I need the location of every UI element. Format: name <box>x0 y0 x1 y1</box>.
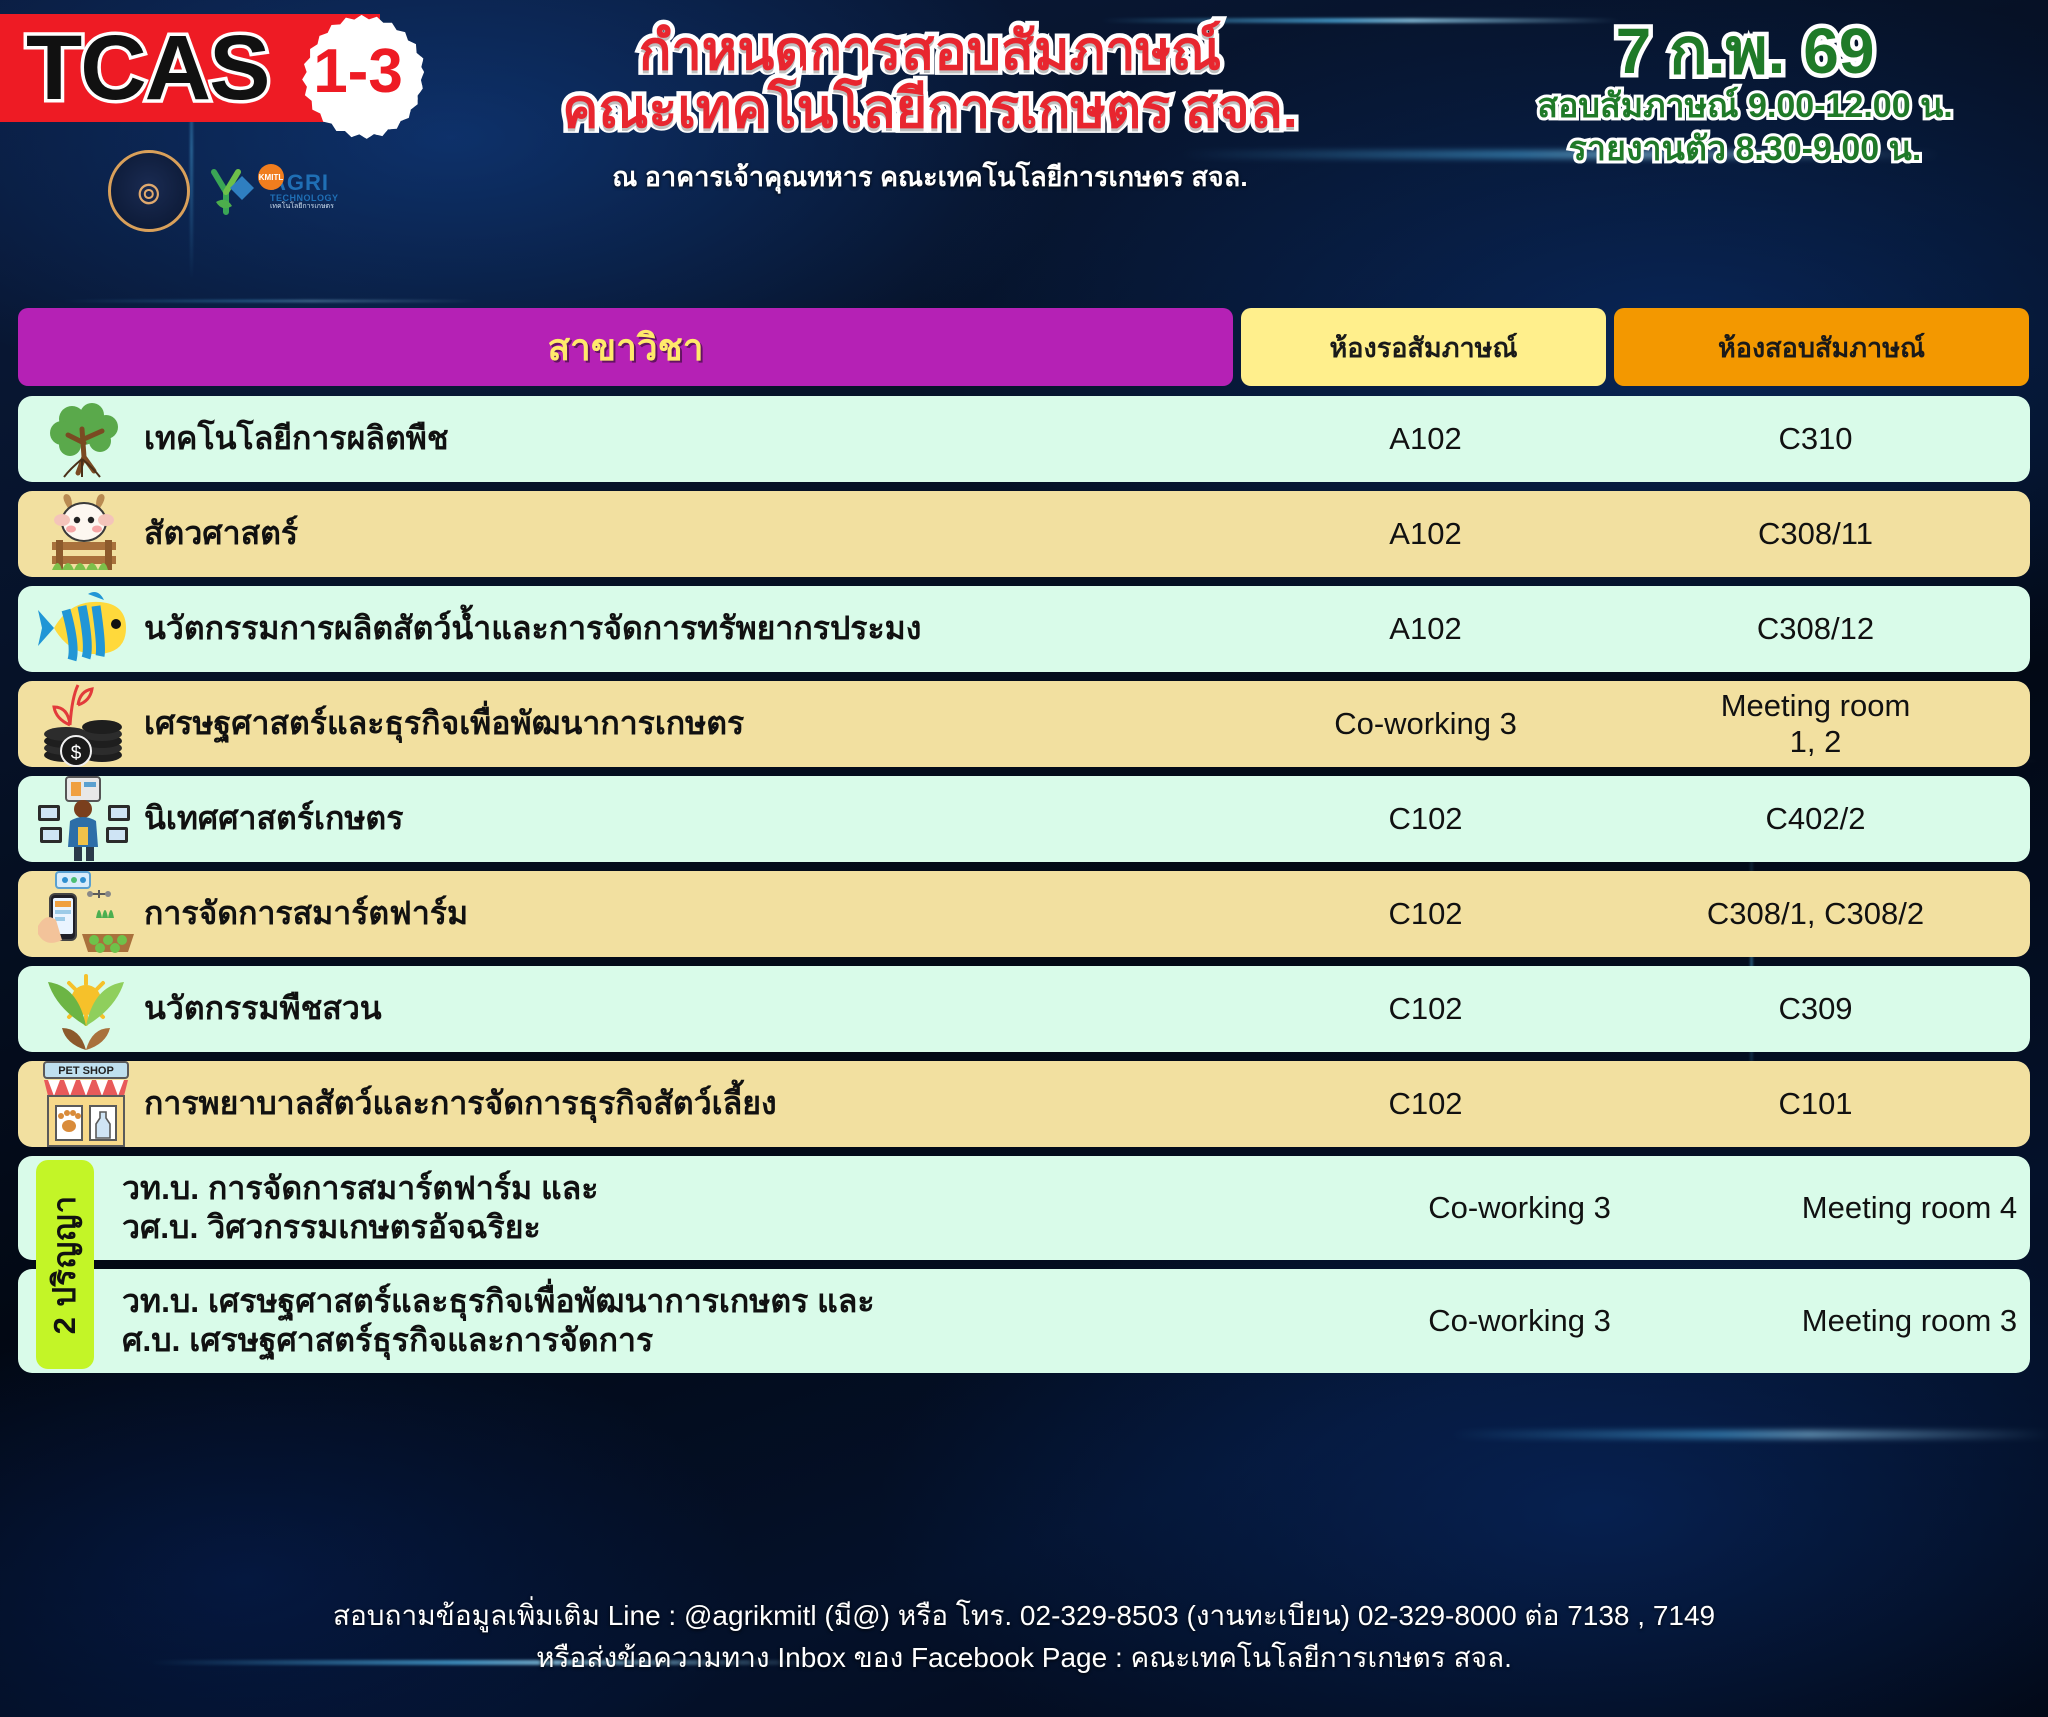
exam-room-value: Meeting room 4 <box>1802 1190 2017 1226</box>
subject-name-line-2: ศ.บ. เศรษฐศาสตร์ธุรกิจและการจัดการ <box>122 1321 875 1360</box>
agri-technology-logo: KMITL AGRI TECHNOLOGY เทคโนโลยีการเกษตร <box>206 162 339 220</box>
waiting-room-value: A102 <box>1389 611 1461 647</box>
cell-subject: นวัตกรรมการผลิตสัตว์น้ำและการจัดการทรัพย… <box>18 586 1243 672</box>
double-degree-tab: 2 ปริญญา <box>36 1160 94 1369</box>
cell-exam-room: C308/12 <box>1608 586 2023 672</box>
exam-room-value: C101 <box>1778 1086 1852 1122</box>
column-header-subject: สาขาวิชา <box>18 308 1233 386</box>
cell-exam-room: C310 <box>1608 396 2023 482</box>
poster-root: TCAS 1-3 ๏ KMITL AGRI <box>0 0 2048 1717</box>
exam-room-value: C308/11 <box>1758 516 1873 552</box>
table-body: เทคโนโลยีการผลิตพืชA102C310 สัตวศาสตร์A1… <box>18 396 2030 1147</box>
kmitl-badge: KMITL <box>258 164 284 190</box>
subject-name: การจัดการสมาร์ตฟาร์ม <box>144 894 468 933</box>
subject-name: นวัตกรรมพืชสวน <box>144 989 382 1028</box>
waiting-room-value: Co-working 3 <box>1428 1190 1611 1226</box>
light-streak <box>60 300 480 302</box>
subject-name: เทคโนโลยีการผลิตพืช <box>144 419 449 458</box>
double-degree-tab-label: 2 ปริญญา <box>40 1195 90 1334</box>
goat-icon <box>28 491 144 577</box>
column-header-waiting-room-label: ห้องรอสัมภาษณ์ <box>1330 326 1518 369</box>
pet-shop-icon: PET SHOP <box>28 1061 144 1147</box>
footer-contact: สอบถามข้อมูลเพิ่มเติม Line : @agrikmitl … <box>0 1595 2048 1679</box>
exam-room-value: Meeting room 3 <box>1802 1303 2017 1339</box>
cell-subject: วท.บ. การจัดการสมาร์ตฟาร์ม และวศ.บ. วิศว… <box>18 1156 1337 1260</box>
cell-subject: นิเทศศาสตร์เกษตร <box>18 776 1243 862</box>
column-header-subject-label: สาขาวิชา <box>547 318 703 377</box>
cell-waiting-room: Co-working 3 <box>1337 1269 1702 1373</box>
svg-text:$: $ <box>71 743 82 764</box>
exam-date: 7 ก.พ. 69 <box>1450 18 2040 85</box>
smartfarm-icon <box>28 871 144 957</box>
exam-room-value: C309 <box>1778 991 1852 1027</box>
agri-subname: TECHNOLOGY <box>270 194 339 203</box>
waiting-room-value: Co-working 3 <box>1334 706 1517 742</box>
cell-exam-room: C308/11 <box>1608 491 2023 577</box>
cell-subject: $ เศรษฐศาสตร์และธุรกิจเพื่อพัฒนาการเกษตร <box>18 681 1243 767</box>
cell-subject: เทคโนโลยีการผลิตพืช <box>18 396 1243 482</box>
table-row-double-degree: วท.บ. เศรษฐศาสตร์และธุรกิจเพื่อพัฒนาการเ… <box>18 1269 2030 1373</box>
tree-icon <box>28 396 144 482</box>
subject-name: นิเทศศาสตร์เกษตร <box>144 799 403 838</box>
page-title: กำหนดการสอบสัมภาษณ์ คณะเทคโนโลยีการเกษตร… <box>430 22 1430 198</box>
cell-subject: การจัดการสมาร์ตฟาร์ม <box>18 871 1243 957</box>
footer-line-1: สอบถามข้อมูลเพิ่มเติม Line : @agrikmitl … <box>0 1595 2048 1637</box>
schedule-table: สาขาวิชา ห้องรอสัมภาษณ์ ห้องสอบสัมภาษณ์ … <box>18 308 2030 1373</box>
waiting-room-value: C102 <box>1388 801 1462 837</box>
waiting-room-value: C102 <box>1388 991 1462 1027</box>
cell-exam-room: C308/1, C308/2 <box>1608 871 2023 957</box>
fish-icon <box>28 586 144 672</box>
table-row: เทคโนโลยีการผลิตพืชA102C310 <box>18 396 2030 482</box>
poster-header: TCAS 1-3 ๏ KMITL AGRI <box>0 0 2048 300</box>
table-row: $ เศรษฐศาสตร์และธุรกิจเพื่อพัฒนาการเกษตร… <box>18 681 2030 767</box>
subject-name: นวัตกรรมการผลิตสัตว์น้ำและการจัดการทรัพย… <box>144 609 921 648</box>
subject-name-line-1: วท.บ. เศรษฐศาสตร์และธุรกิจเพื่อพัฒนาการเ… <box>122 1282 875 1321</box>
column-header-waiting-room: ห้องรอสัมภาษณ์ <box>1241 308 1606 386</box>
cell-exam-room: C101 <box>1608 1061 2023 1147</box>
table-row: การจัดการสมาร์ตฟาร์มC102C308/1, C308/2 <box>18 871 2030 957</box>
waiting-room-value: A102 <box>1389 421 1461 457</box>
column-header-exam-room: ห้องสอบสัมภาษณ์ <box>1614 308 2029 386</box>
footer-line-2: หรือส่งข้อความทาง Inbox ของ Facebook Pag… <box>0 1637 2048 1679</box>
title-line-2: คณะเทคโนโลยีการเกษตร สจล. <box>430 80 1430 138</box>
cell-subject: วท.บ. เศรษฐศาสตร์และธุรกิจเพื่อพัฒนาการเ… <box>18 1269 1337 1373</box>
table-row: นวัตกรรมพืชสวนC102C309 <box>18 966 2030 1052</box>
cell-exam-room: Meeting room 4 <box>1702 1156 2048 1260</box>
subject-name: การพยาบาลสัตว์และการจัดการธุรกิจสัตว์เลี… <box>144 1084 777 1123</box>
cell-waiting-room: A102 <box>1243 491 1608 577</box>
waiting-room-value: C102 <box>1388 1086 1462 1122</box>
cell-exam-room: C309 <box>1608 966 2023 1052</box>
cell-subject: PET SHOP การพยาบาลสัตว์และการจัดการธุรกิ… <box>18 1061 1243 1147</box>
waiting-room-value: A102 <box>1389 516 1461 552</box>
column-header-exam-room-label: ห้องสอบสัมภาษณ์ <box>1718 326 1925 369</box>
agri-thai-name: เทคโนโลยีการเกษตร <box>270 203 339 210</box>
table-header-row: สาขาวิชา ห้องรอสัมภาษณ์ ห้องสอบสัมภาษณ์ <box>18 308 2030 386</box>
cell-waiting-room: Co-working 3 <box>1243 681 1608 767</box>
cell-waiting-room: A102 <box>1243 586 1608 672</box>
venue-text: ณ อาคารเจ้าคุณทหาร คณะเทคโนโลยีการเกษตร … <box>430 155 1430 198</box>
table-row: สัตวศาสตร์A102C308/11 <box>18 491 2030 577</box>
subject-name-line-2: วศ.บ. วิศวกรรมเกษตรอัจฉริยะ <box>122 1208 598 1247</box>
agri-leaf-icon: KMITL <box>206 162 264 220</box>
subject-name: เศรษฐศาสตร์และธุรกิจเพื่อพัฒนาการเกษตร <box>144 704 744 743</box>
exam-room-value: C308/12 <box>1757 611 1874 647</box>
waiting-room-value: Co-working 3 <box>1428 1303 1611 1339</box>
tcas-round-label: 1-3 <box>313 41 403 103</box>
media-person-icon <box>28 776 144 862</box>
table-row: นิเทศศาสตร์เกษตรC102C402/2 <box>18 776 2030 862</box>
title-line-1: กำหนดการสอบสัมภาษณ์ <box>430 22 1430 80</box>
cell-waiting-room: A102 <box>1243 396 1608 482</box>
cell-exam-room: Meeting room 3 <box>1702 1269 2048 1373</box>
cell-waiting-room: C102 <box>1243 871 1608 957</box>
report-time: รายงานตัว 8.30-9.00 น. <box>1450 128 2040 171</box>
light-streak <box>1450 1430 2048 1439</box>
cell-exam-room: Meeting room1, 2 <box>1608 681 2023 767</box>
cell-subject: สัตวศาสตร์ <box>18 491 1243 577</box>
money-plant-icon: $ <box>28 681 144 767</box>
seal-glyph: ๏ <box>137 171 161 211</box>
tcas-label: TCAS <box>26 22 268 114</box>
svg-text:PET SHOP: PET SHOP <box>58 1065 114 1077</box>
waiting-room-value: C102 <box>1388 896 1462 932</box>
subject-name-line-1: วท.บ. การจัดการสมาร์ตฟาร์ม และ <box>122 1169 598 1208</box>
exam-room-value: Meeting room1, 2 <box>1721 688 1911 759</box>
table-row: PET SHOP การพยาบาลสัตว์และการจัดการธุรกิ… <box>18 1061 2030 1147</box>
cell-exam-room: C402/2 <box>1608 776 2023 862</box>
kmitl-seal-icon: ๏ <box>108 150 190 232</box>
subject-name: สัตวศาสตร์ <box>144 514 298 553</box>
date-time-block: 7 ก.พ. 69 สอบสัมภาษณ์ 9.00-12.00 น. รายง… <box>1450 18 2040 170</box>
exam-room-value: C402/2 <box>1766 801 1866 837</box>
sprout-sun-icon <box>28 966 144 1052</box>
exam-room-value: C310 <box>1778 421 1852 457</box>
cell-subject: นวัตกรรมพืชสวน <box>18 966 1243 1052</box>
exam-room-value: C308/1, C308/2 <box>1707 896 1924 932</box>
interview-time: สอบสัมภาษณ์ 9.00-12.00 น. <box>1450 85 2040 128</box>
table-row: นวัตกรรมการผลิตสัตว์น้ำและการจัดการทรัพย… <box>18 586 2030 672</box>
cell-waiting-room: Co-working 3 <box>1337 1156 1702 1260</box>
table-row-double-degree: วท.บ. การจัดการสมาร์ตฟาร์ม และวศ.บ. วิศว… <box>18 1156 2030 1260</box>
double-degree-group: 2 ปริญญา วท.บ. การจัดการสมาร์ตฟาร์ม และว… <box>18 1156 2030 1373</box>
cell-waiting-room: C102 <box>1243 776 1608 862</box>
logo-group: ๏ KMITL AGRI TECHNOLOGY เทคโนโลยีการเกษต… <box>108 150 339 232</box>
cell-waiting-room: C102 <box>1243 966 1608 1052</box>
cell-waiting-room: C102 <box>1243 1061 1608 1147</box>
